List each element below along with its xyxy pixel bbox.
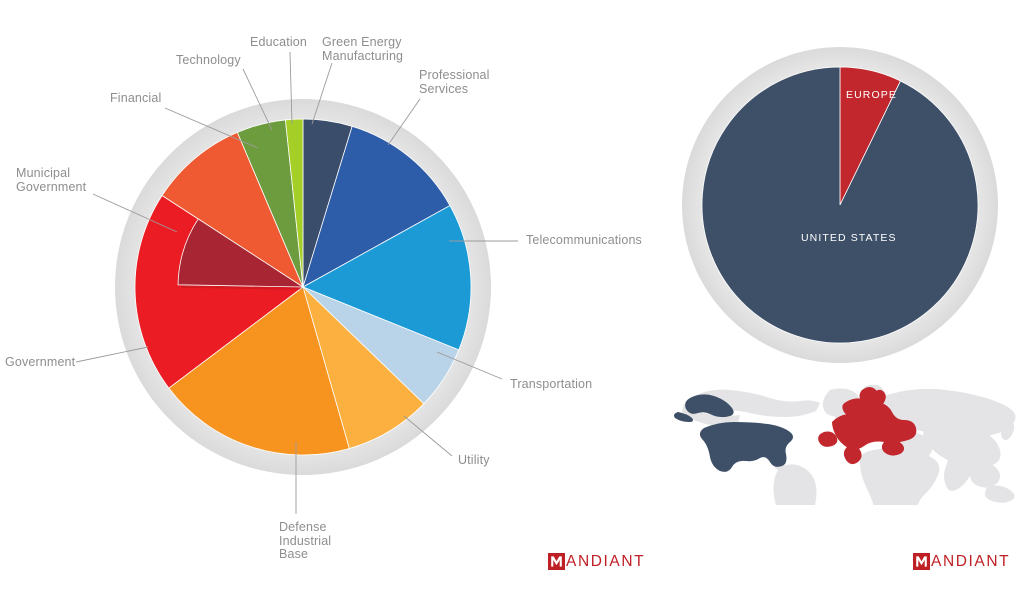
pie-slice-united-states[interactable] (702, 67, 978, 343)
callout-label-telecommunications: Telecommunications (526, 234, 642, 248)
callout-label-professional-services: Professional Services (419, 69, 490, 96)
callout-label-defense-industrial-base: Defense Industrial Base (279, 521, 331, 562)
mandiant-mark-icon (913, 553, 930, 570)
callout-label-transportation: Transportation (510, 378, 592, 392)
mandiant-wordmark: ANDIANT (931, 553, 1010, 570)
callout-label-technology: Technology (176, 54, 241, 68)
region-label-united-states: UNITED STATES (801, 232, 897, 244)
map-highlight-united-states (700, 422, 793, 472)
mandiant-wordmark: ANDIANT (566, 553, 645, 570)
mandiant-logo-right: ANDIANT (913, 553, 1010, 570)
callout-label-municipal-government: Municipal Government (16, 167, 86, 194)
industry-pie-slices[interactable] (135, 119, 471, 455)
callout-label-government: Government (5, 356, 75, 370)
callout-label-financial: Financial (110, 92, 161, 106)
region-label-europe: EUROPE (846, 89, 897, 101)
callout-label-utility: Utility (458, 454, 490, 468)
chart-canvas: Financial Technology Education Green Ene… (0, 0, 1024, 590)
region-pie-slices[interactable] (702, 67, 978, 343)
mandiant-mark-icon (548, 553, 565, 570)
world-map (674, 384, 1024, 550)
mandiant-logo-left: ANDIANT (548, 553, 645, 570)
callout-label-green-energy-manufacturing: Green Energy Manufacturing (322, 36, 403, 63)
callout-label-education: Education (250, 36, 307, 50)
